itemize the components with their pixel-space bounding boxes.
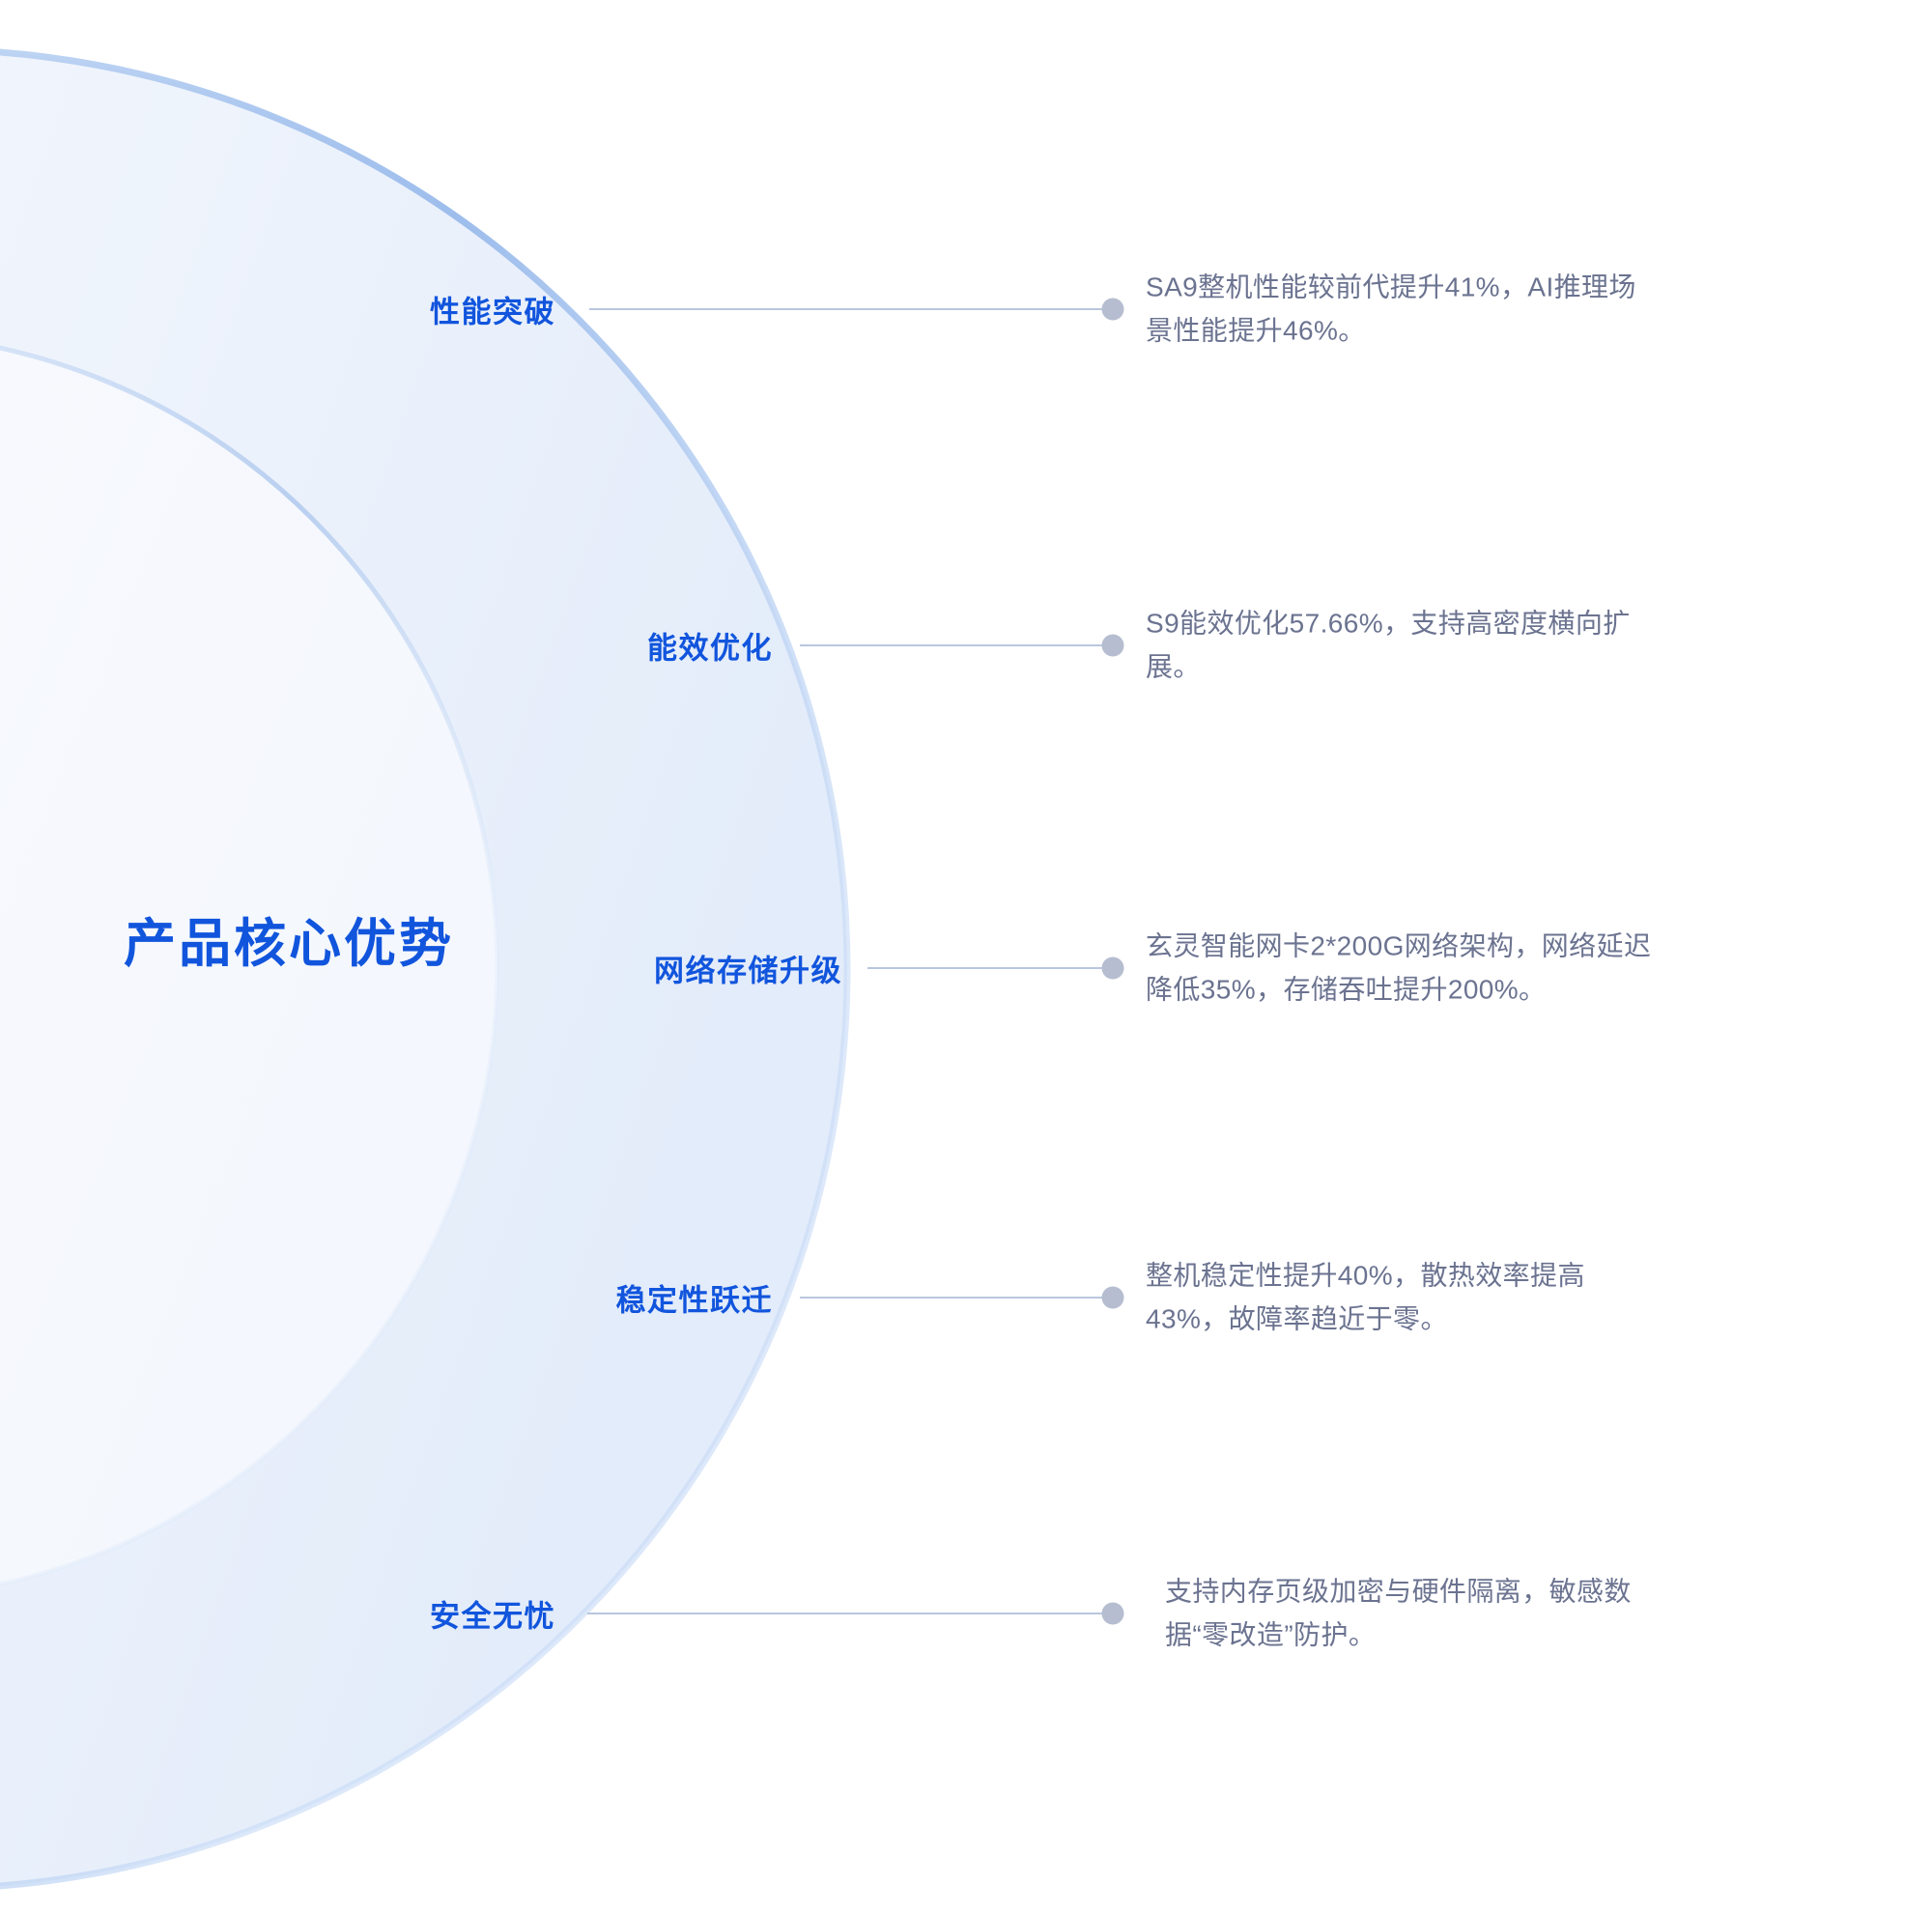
infographic-canvas: 产品核心优势 性能突破 SA9整机性能较前代提升41%，AI推理场 景性能提升4… (0, 0, 1932, 1913)
connector-dot (1102, 1287, 1124, 1309)
advantage-description-network-storage: 玄灵智能网卡2*200G网络架构，网络延迟 降低35%，存储吞吐提升200%。 (1146, 925, 1812, 1013)
connector-line (867, 967, 1104, 969)
connector-line (800, 1297, 1104, 1299)
connector-dot (1102, 299, 1124, 321)
connector-line (800, 644, 1104, 646)
advantage-label-network-storage[interactable]: 网络存储升级 (654, 947, 842, 990)
advantage-description-performance: SA9整机性能较前代提升41%，AI推理场 景性能提升46%。 (1146, 266, 1783, 354)
connector-dot (1102, 957, 1124, 980)
advantage-description-security: 支持内存页级加密与硬件隔离，敏感数 据“零改造”防护。 (1165, 1570, 1803, 1658)
advantage-label-stability[interactable]: 稳定性跃迁 (616, 1276, 774, 1320)
advantage-description-efficiency: S9能效优化57.66%，支持高密度横向扩 展。 (1146, 602, 1783, 690)
connector-dot (1102, 635, 1124, 657)
advantage-label-efficiency[interactable]: 能效优化 (647, 624, 773, 668)
connector-line (587, 1613, 1104, 1614)
center-title: 产品核心优势 (124, 913, 454, 976)
advantage-description-stability: 整机稳定性提升40%，散热效率提高 43%，故障率趋近于零。 (1146, 1254, 1783, 1342)
connector-dot (1102, 1603, 1124, 1625)
advantage-label-performance[interactable]: 性能突破 (430, 288, 555, 331)
advantage-label-security[interactable]: 安全无忧 (430, 1592, 555, 1636)
connector-line (589, 308, 1104, 310)
